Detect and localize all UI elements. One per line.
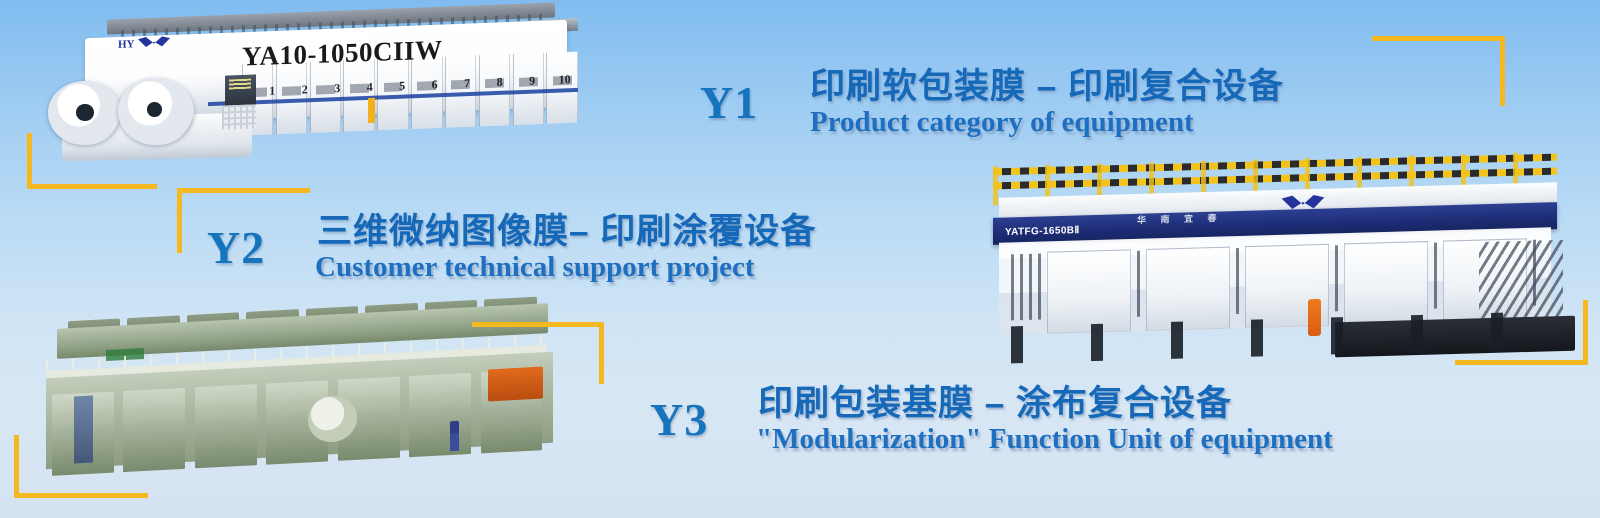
press-control-keypad: [222, 104, 256, 129]
entry-y1-subtitle: Product category of equipment: [810, 106, 1284, 138]
entry-y1: Y1 印刷软包装膜 – 印刷复合设备 Product category of e…: [700, 66, 1284, 138]
equipment-category-banner: 1 2 3 4 5 6 7 8 9 10 HY: [0, 0, 1600, 518]
press-unit-number: 10: [548, 72, 580, 87]
entry-y1-code: Y1: [700, 76, 758, 129]
swallow-logo-icon: [137, 35, 171, 51]
entry-y2-subtitle: Customer technical support project: [315, 251, 816, 283]
press-yellow-marker: [368, 98, 375, 123]
entry-y2-code: Y2: [207, 221, 265, 274]
press-unit-number: 4: [353, 79, 385, 94]
bracket-top-right-corner: [1372, 36, 1505, 106]
line3-operator-figure: [450, 420, 459, 450]
entry-y3-title: 印刷包装基膜 – 涂布复合设备: [758, 383, 1333, 425]
line-model-label: YATFG-1650BⅡ: [1005, 225, 1080, 238]
line3-block: [409, 373, 471, 457]
press-unit-number: 5: [386, 78, 418, 93]
press-unit-number: 1: [256, 83, 288, 98]
line-cabinet: [1047, 250, 1131, 334]
entry-y2-title: 三维微纳图像膜– 印刷涂覆设备: [317, 211, 816, 253]
press-control-screen: [225, 74, 256, 105]
bracket-mid-center-corner: [472, 322, 604, 384]
press-unit-number: 6: [418, 77, 450, 92]
bracket-bottom-right-corner: [1455, 300, 1588, 365]
line-cabinet: [1344, 241, 1428, 325]
entry-y3-code: Y3: [650, 393, 708, 446]
line-brand-logo: [1275, 193, 1331, 220]
press-unit-number: 2: [288, 82, 320, 97]
line-cabinet: [1146, 247, 1230, 331]
bracket-top-left-corner: [27, 133, 157, 189]
brand-logo-text: HY: [118, 38, 135, 51]
press-unit-number: 8: [483, 74, 515, 89]
press-unit-number: 7: [451, 75, 483, 90]
entry-y2: Y2 三维微纳图像膜– 印刷涂覆设备 Customer technical su…: [207, 211, 816, 283]
entry-y1-title: 印刷软包装膜 – 印刷复合设备: [810, 66, 1284, 108]
press-brand-logo: HY: [118, 35, 171, 52]
bracket-bottom-left-corner: [14, 435, 148, 498]
reel-hub: [76, 104, 93, 121]
press-unit-number: 9: [515, 73, 547, 88]
press-model-label: YA10-1050CIIW: [242, 34, 443, 72]
reel-hub: [147, 102, 162, 117]
entry-y3: Y3 印刷包装基膜 – 涂布复合设备 "Modularization" Func…: [650, 383, 1333, 455]
line3-block: [195, 384, 257, 468]
swallow-logo-icon: [1275, 193, 1331, 215]
entry-y3-subtitle: "Modularization" Function Unit of equipm…: [756, 423, 1333, 455]
press-unit-number: 3: [321, 80, 353, 95]
